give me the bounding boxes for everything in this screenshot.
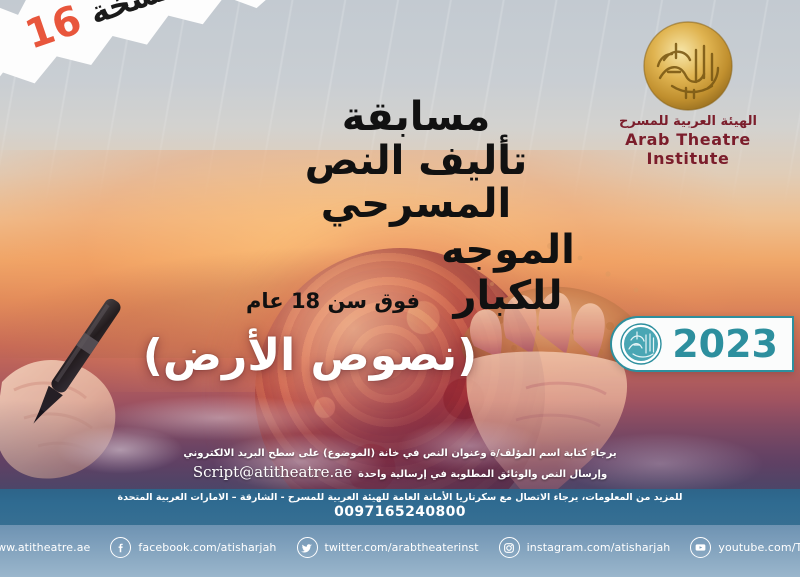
badge-year-text: 2023	[672, 325, 778, 363]
contact-phone[interactable]: 0097165240800	[0, 504, 800, 520]
edition-label: النسخة	[85, 0, 198, 32]
title-line-1: مسابقة	[246, 96, 586, 138]
contact-text: للمزيد من المعلومات، يرجاء الاتصال مع سك…	[0, 492, 800, 503]
logo-english-name: Arab Theatre Institute	[604, 130, 772, 168]
submission-email[interactable]: Script@atitheatre.ae	[193, 461, 352, 484]
arab-theatre-institute-emblem-icon	[642, 20, 734, 112]
institute-logo: الهيئة العربية للمسرح Arab Theatre Insti…	[604, 20, 772, 168]
title-line-2: تأليف النص المسرحي	[246, 140, 586, 225]
social-link-website[interactable]: www www.atitheatre.ae	[0, 537, 90, 558]
social-label-instagram: instagram.com/atisharjah	[527, 541, 671, 554]
youtube-icon	[690, 537, 711, 558]
social-link-facebook[interactable]: facebook.com/atisharjah	[110, 537, 276, 558]
social-links-bar: www www.atitheatre.ae facebook.com/atish…	[0, 525, 800, 577]
instagram-icon	[499, 537, 520, 558]
poster-canvas: النسخة 16	[0, 0, 800, 577]
social-label-twitter: twitter.com/arabtheaterinst	[325, 541, 479, 554]
instruction-line-2: وإرسال النص والوثائق المطلوبة في إرسالية…	[358, 467, 607, 482]
twitter-icon	[297, 537, 318, 558]
poster-title: مسابقة تأليف النص المسرحي الموجه للكبار …	[246, 96, 586, 319]
social-label-website: www.atitheatre.ae	[0, 541, 90, 554]
logo-arabic-name: الهيئة العربية للمسرح	[604, 114, 772, 129]
social-label-facebook: facebook.com/atisharjah	[138, 541, 276, 554]
title-age-note: فوق سن 18 عام	[246, 289, 420, 319]
contact-bar: للمزيد من المعلومات، يرجاء الاتصال مع سك…	[0, 489, 800, 525]
social-link-twitter[interactable]: twitter.com/arabtheaterinst	[297, 537, 479, 558]
social-label-youtube: youtube.com/TIsharja	[718, 541, 800, 554]
theme-title: (نصوص الأرض)	[0, 330, 620, 381]
year-badge: 2023	[610, 316, 794, 372]
instruction-line-1: يرجاء كتابة اسم المؤلف/ة وعنوان النص في …	[0, 446, 800, 461]
social-link-instagram[interactable]: instagram.com/atisharjah	[499, 537, 671, 558]
submission-instructions: يرجاء كتابة اسم المؤلف/ة وعنوان النص في …	[0, 446, 800, 484]
badge-emblem-icon	[620, 323, 662, 365]
edition-number: 16	[20, 0, 88, 59]
social-link-youtube[interactable]: youtube.com/TIsharja	[690, 537, 800, 558]
title-line-3: الموجه للكبار	[430, 227, 586, 319]
facebook-icon	[110, 537, 131, 558]
